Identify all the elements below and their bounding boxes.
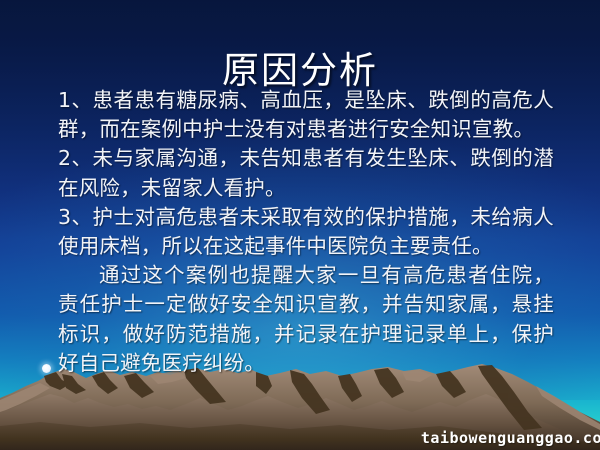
body-paragraph-cause-2: 2、未与家属沟通，未告知患者有发生坠床、跌倒的潜在风险，未留家人看护。: [58, 144, 554, 202]
slide-body-text: 1、患者患有糖尿病、高血压，是坠床、跌倒的高危人群，而在案例中护士没有对患者进行…: [58, 86, 554, 378]
body-paragraph-cause-3: 3、护士对高危患者未采取有效的保护措施，未给病人使用床档，所以在这起事件中医院负…: [58, 203, 554, 261]
watermark-text: taibowenguanggao.co: [421, 429, 600, 447]
body-paragraph-summary: 通过这个案例也提醒大家一旦有高危患者住院，责任护士一定做好安全知识宣教，并告知家…: [58, 261, 554, 378]
body-paragraph-cause-1: 1、患者患有糖尿病、高血压，是坠床、跌倒的高危人群，而在案例中护士没有对患者进行…: [58, 86, 554, 144]
presentation-slide: 原因分析 1、患者患有糖尿病、高血压，是坠床、跌倒的高危人群，而在案例中护士没有…: [0, 0, 600, 450]
